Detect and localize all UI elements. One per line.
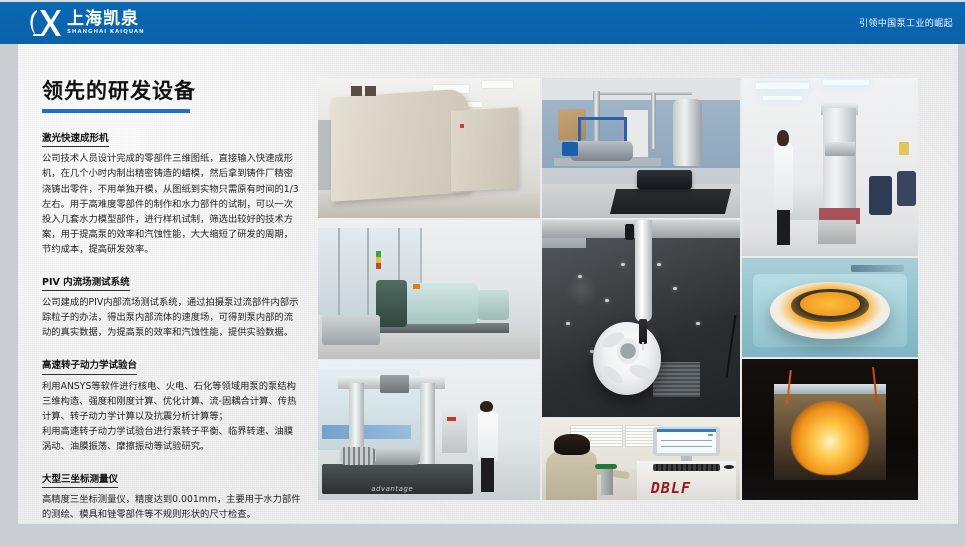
body-line: 左右。用于高难度零部件的制作和水力部件的试制，可以一次 [42, 197, 318, 212]
photo-universal-testing-machine[interactable] [742, 78, 918, 256]
balancer-brand-label: DBLF [651, 479, 691, 497]
section-piv-system: PIV 内流场测试系统 公司建成的PIV内部流场测试系统，通过拍摄泵过流部件内部… [42, 270, 318, 340]
section-heading: PIV 内流场测试系统 [42, 277, 130, 291]
body-line: 的测绘、模具和锉零部件等不规则形状的尺寸检查。 [42, 507, 318, 522]
body-line: 投入几套水力模型部件，进行样机试制，筛选出较好的技术方 [42, 212, 318, 227]
page-title: 领先的研发设备 [42, 80, 318, 103]
photo-large-cmm-shaft[interactable]: advantage [318, 361, 540, 500]
section-body: 高精度三坐标测量仪，精度达到0.001mm，主要用于水力部件 的测绘、模具和锉零… [42, 492, 318, 522]
body-line: 公司技术人员设计完成的零部件三维图纸，直接输入快速成形 [42, 151, 318, 166]
kaiquan-k-mark-icon [24, 7, 62, 39]
logo-chinese-name: 上海凯泉 [67, 11, 145, 28]
photo-rotor-dynamics-rig[interactable] [318, 220, 540, 359]
section-body: 公司建成的PIV内部流场测试系统，通过拍摄泵过流部件内部示 踪粒子的办法，得出泵… [42, 295, 318, 340]
section-heading: 高速转子动力学试验台 [42, 360, 137, 374]
photo-furnace-glow[interactable] [742, 359, 918, 500]
body-line: 动的真实数据，为提高泵的效率和汽蚀性能，提供实验数据。 [42, 325, 318, 340]
body-line: 机，在几个小时内制出精密铸造的蜡模，然后拿到铸件厂精密 [42, 166, 318, 181]
photo-balancing-machine-operator[interactable]: DBLF [542, 419, 740, 500]
photo-piv-test-loop[interactable] [542, 78, 740, 218]
section-body: 公司技术人员设计完成的零部件三维图纸，直接输入快速成形 机，在几个小时内制出精密… [42, 151, 318, 256]
title-underline-rule [42, 109, 190, 113]
logo-text: 上海凯泉 SHANGHAI KAIQUAN [67, 11, 145, 36]
text-column: 领先的研发设备 激光快速成形机 公司技术人员设计完成的零部件三维图纸，直接输入快… [42, 80, 318, 535]
photo-laser-prototyping-machine[interactable] [318, 78, 540, 218]
page-header: 上海凯泉 SHANGHAI KAIQUAN 引领中国泵工业的崛起 [0, 0, 965, 44]
section-laser-prototyping: 激光快速成形机 公司技术人员设计完成的零部件三维图纸，直接输入快速成形 机，在几… [42, 126, 318, 257]
slide-page: 上海凯泉 SHANGHAI KAIQUAN 引领中国泵工业的崛起 领先的研发设备… [0, 0, 965, 546]
body-line: 三维构造、强度和刚度计算、优化计算、流-固耦合计算、传热 [42, 394, 318, 409]
body-line: 涡动、油膜振荡、摩擦振动等试验研究。 [42, 439, 318, 454]
header-top-edge [0, 0, 965, 2]
body-line: 高精度三坐标测量仪，精度达到0.001mm，主要用于水力部件 [42, 492, 318, 507]
body-line: 公司建成的PIV内部流场测试系统，通过拍摄泵过流部件内部示 [42, 295, 318, 310]
section-rotor-dynamics: 高速转子动力学试验台 利用ANSYS等软件进行核电、火电、石化等领域用泵的泵结构… [42, 353, 318, 454]
body-line: 踪粒子的办法，得出泵内部流体的速度场，可得到泵内部的流 [42, 310, 318, 325]
section-heading: 大型三坐标测量仪 [42, 474, 118, 488]
photo-grid: advantage [318, 78, 918, 500]
body-line: 利用高速转子动力学试验台进行泵转子平衡、临界转速、油膜 [42, 424, 318, 439]
section-cmm: 大型三坐标测量仪 高精度三坐标测量仪，精度达到0.001mm，主要用于水力部件 … [42, 467, 318, 522]
photo-glass-amber-device[interactable] [742, 258, 918, 357]
header-tagline: 引领中国泵工业的崛起 [859, 0, 953, 44]
section-body: 利用ANSYS等软件进行核电、火电、石化等领域用泵的泵结构 三维构造、强度和刚度… [42, 379, 318, 454]
body-line: 浇铸出零件，不用单独开模，从图纸到实物只需原有时间的1/3 [42, 182, 318, 197]
body-line: 计算、转子动力学计算以及抗震分析计算等； [42, 409, 318, 424]
logo-english-name: SHANGHAI KAIQUAN [67, 30, 145, 36]
cmm-brand-label: advantage [371, 485, 413, 493]
body-line: 案，用于提高泵的效率和汽蚀性能，大大缩短了研发的周期， [42, 227, 318, 242]
body-line: 节约成本，提高研发效率。 [42, 242, 318, 257]
section-heading: 激光快速成形机 [42, 133, 109, 147]
slide-canvas: 领先的研发设备 激光快速成形机 公司技术人员设计完成的零部件三维图纸，直接输入快… [18, 44, 958, 524]
photo-cmm-impeller-probe[interactable] [542, 220, 740, 417]
company-logo[interactable]: 上海凯泉 SHANGHAI KAIQUAN [24, 6, 164, 40]
body-line: 利用ANSYS等软件进行核电、火电、石化等领域用泵的泵结构 [42, 379, 318, 394]
